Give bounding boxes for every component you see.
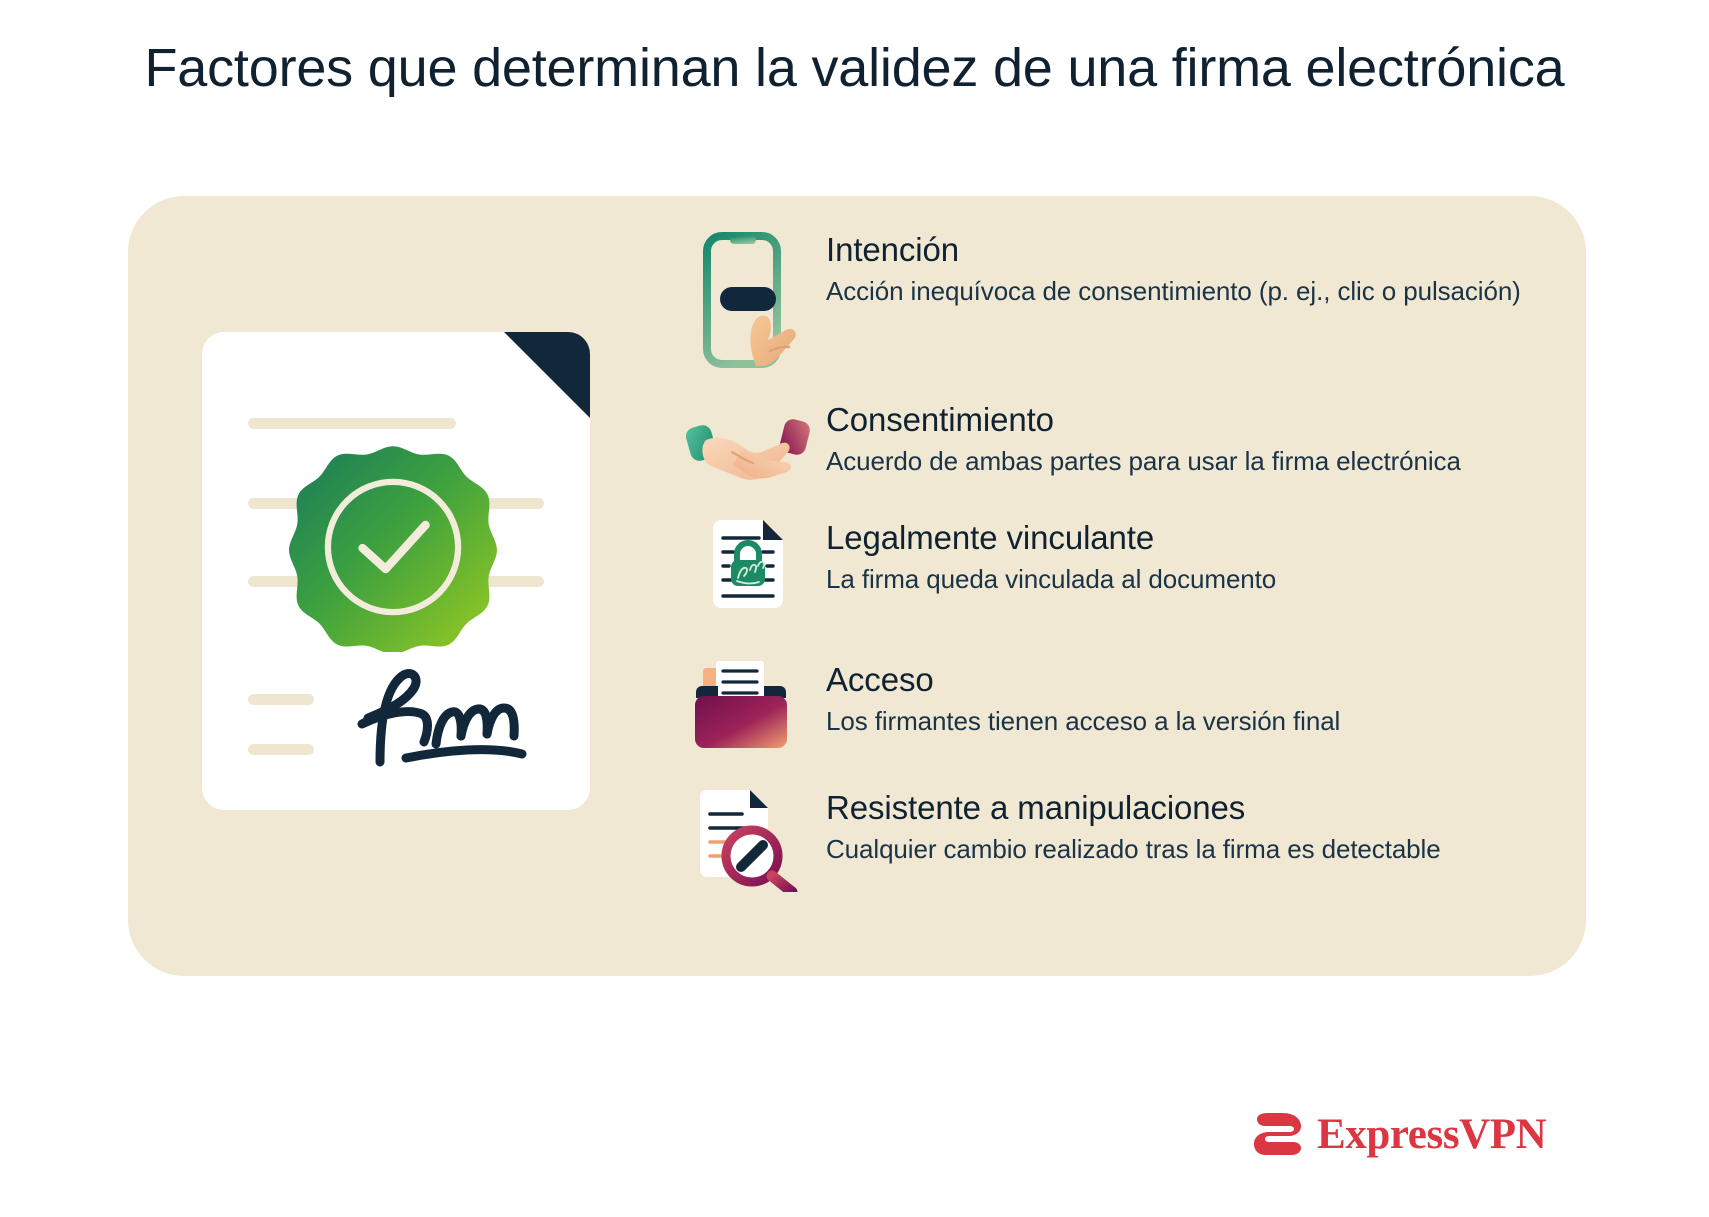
list-item-description: Acuerdo de ambas partes para usar la fir…	[826, 444, 1544, 479]
folded-corner-icon	[504, 332, 590, 418]
list-item: Consentimiento Acuerdo de ambas partes p…	[684, 400, 1544, 490]
list-item-description: Cualquier cambio realizado tras la firma…	[826, 832, 1544, 867]
handshake-icon	[684, 400, 812, 490]
list-item: Resistente a manipulaciones Cualquier ca…	[684, 788, 1544, 892]
phone-tap-icon	[684, 230, 812, 370]
list-item-description: Acción inequívoca de consentimiento (p. …	[826, 274, 1544, 309]
infographic-panel: Intención Acción inequívoca de consentim…	[128, 196, 1586, 976]
list-item-description: Los firmantes tienen acceso a la versión…	[826, 704, 1544, 739]
document-text-line	[248, 694, 314, 705]
page-title: Factores que determinan la validez de un…	[0, 0, 1709, 103]
list-item-title: Intención	[826, 230, 1544, 270]
brand-name: ExpressVPN	[1317, 1110, 1546, 1159]
list-item-title: Legalmente vinculante	[826, 518, 1544, 558]
expressvpn-logo: ExpressVPN	[1252, 1108, 1546, 1160]
document-magnifier-icon	[684, 788, 812, 892]
list-item-title: Acceso	[826, 660, 1544, 700]
expressvpn-e-mark	[1252, 1108, 1304, 1160]
list-item: Acceso Los firmantes tienen acceso a la …	[684, 660, 1544, 758]
document-text-line	[248, 418, 456, 429]
factors-list: Intención Acción inequívoca de consentim…	[684, 230, 1544, 892]
list-item: Intención Acción inequívoca de consentim…	[684, 230, 1544, 370]
list-item-title: Resistente a manipulaciones	[826, 788, 1544, 828]
handwritten-signature-icon	[350, 662, 540, 772]
list-item-title: Consentimiento	[826, 400, 1544, 440]
list-item: Legalmente vinculante La firma queda vin…	[684, 518, 1544, 618]
folder-documents-icon	[684, 660, 812, 758]
signed-document-illustration	[202, 332, 590, 810]
document-text-line	[248, 744, 314, 755]
locked-document-icon	[684, 518, 812, 618]
list-item-description: La firma queda vinculada al documento	[826, 562, 1544, 597]
verified-seal-icon	[288, 442, 498, 652]
